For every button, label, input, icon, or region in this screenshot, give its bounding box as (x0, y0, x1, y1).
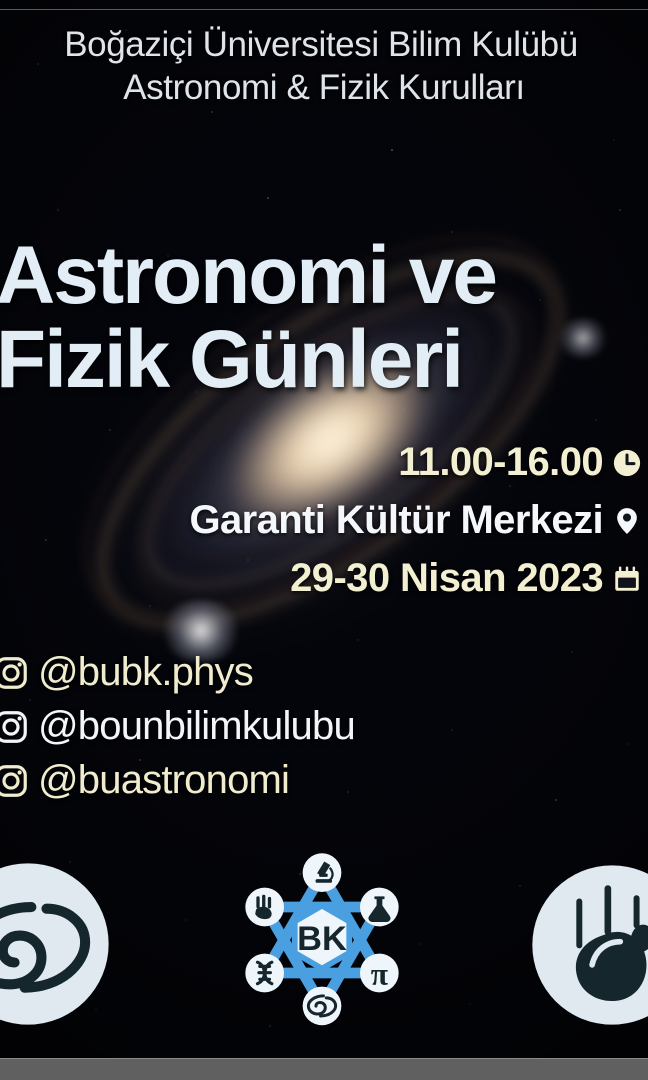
physics-hand-icon (245, 888, 284, 927)
instagram-icon (0, 764, 28, 798)
social-row-bubk-phys[interactable]: @bubk.phys (0, 650, 474, 695)
event-info: 11.00-16.00 Garanti Kültür Merkezi 29-30… (82, 440, 642, 614)
social-handle-text: @buastronomi (38, 758, 289, 803)
bottom-chrome-bar (0, 1058, 648, 1080)
event-venue-text: Garanti Kültür Merkezi (189, 498, 603, 543)
logo-strip: BK (0, 852, 648, 1042)
event-time-row: 11.00-16.00 (82, 440, 642, 485)
dna-icon (245, 954, 284, 993)
social-handle-text: @bubk.phys (38, 650, 253, 695)
astronomy-club-galaxy-logo (0, 860, 112, 1028)
bk-logo-text: BK (297, 920, 347, 958)
club-header-line-1: Boğaziçi Üniversitesi Bilim Kulübü (0, 24, 648, 67)
title-line-1: Astronomi ve (0, 236, 648, 316)
instagram-icon (0, 656, 28, 690)
club-header-line-2: Astronomi & Fizik Kurulları (0, 67, 648, 110)
social-handles: @bubk.phys @bounbilimkulubu @buastronomi (0, 650, 474, 812)
title-line-2: Fizik Günleri (0, 320, 648, 400)
bilim-kulubu-logo: BK (236, 852, 408, 1028)
clock-icon (612, 448, 642, 478)
event-venue-row: Garanti Kültür Merkezi (82, 498, 642, 543)
svg-text:π: π (371, 956, 388, 991)
event-poster: Boğaziçi Üniversitesi Bilim Kulübü Astro… (0, 0, 648, 1080)
event-time-text: 11.00-16.00 (398, 440, 603, 485)
instagram-icon (0, 710, 28, 744)
page-title: Astronomi ve Fizik Günleri (0, 236, 648, 401)
event-date-text: 29-30 Nisan 2023 (290, 556, 603, 601)
pi-icon: π (360, 954, 399, 993)
event-date-row: 29-30 Nisan 2023 (82, 556, 642, 601)
social-row-bounbilimkulubu[interactable]: @bounbilimkulubu (0, 704, 474, 749)
social-row-buastronomi[interactable]: @buastronomi (0, 758, 474, 803)
club-header: Boğaziçi Üniversitesi Bilim Kulübü Astro… (0, 24, 648, 109)
galaxy-icon (303, 987, 342, 1026)
calendar-icon (612, 564, 642, 594)
social-handle-text: @bounbilimkulubu (38, 704, 355, 749)
microscope-icon (303, 853, 342, 892)
location-pin-icon (612, 506, 642, 536)
flask-icon (360, 888, 399, 927)
top-separator-line (0, 9, 648, 10)
physics-club-logo (524, 862, 648, 1028)
